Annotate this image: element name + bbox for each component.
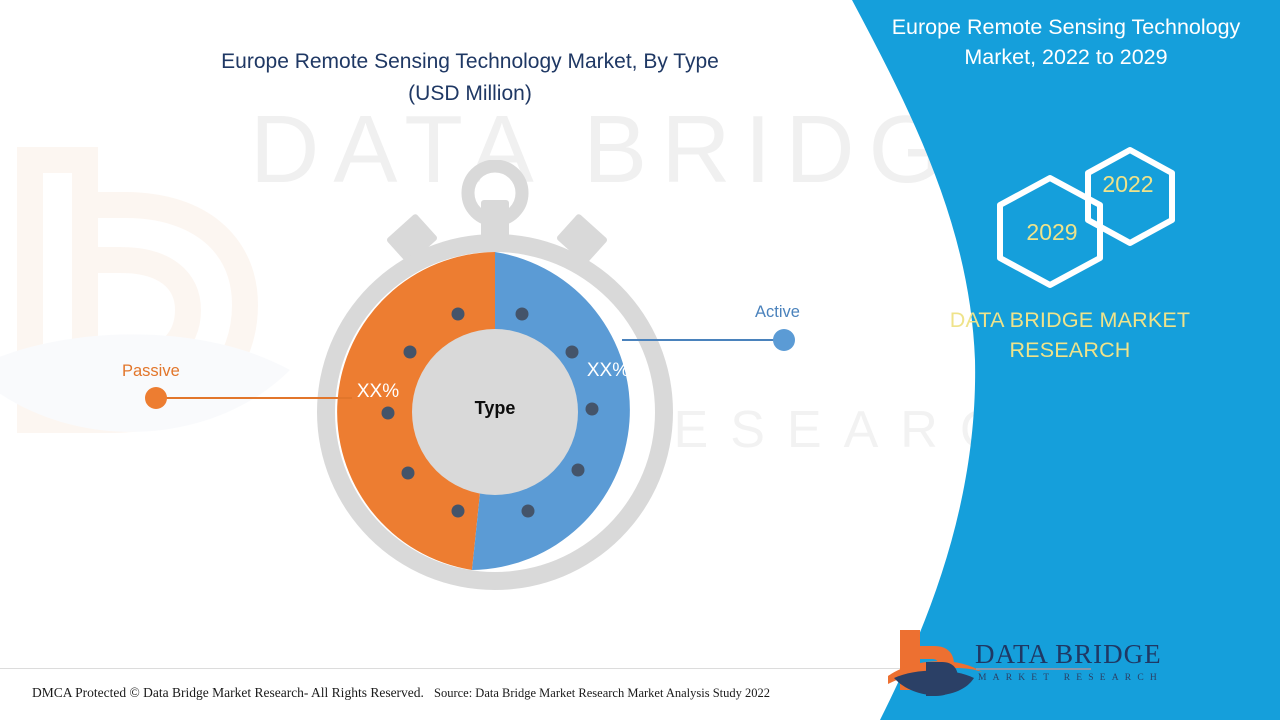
brand-name: DATA BRIDGE MARKET RESEARCH bbox=[874, 305, 1266, 365]
year-badge-2029-label: 2029 bbox=[1020, 219, 1084, 246]
footer-source-text: Source: Data Bridge Market Research Mark… bbox=[434, 686, 770, 701]
logo-tagline: MARKET RESEARCH bbox=[978, 673, 1163, 683]
panel-title-line-2: Market, 2022 to 2029 bbox=[866, 42, 1266, 72]
legend-dot-passive[interactable] bbox=[145, 387, 167, 409]
brand-name-line-2: RESEARCH bbox=[874, 335, 1266, 365]
logo-divider bbox=[976, 668, 1091, 670]
panel-title-line-1: Europe Remote Sensing Technology bbox=[866, 12, 1266, 42]
year-badges bbox=[980, 140, 1200, 290]
year-badge-2022-label: 2022 bbox=[1096, 171, 1160, 198]
infographic-canvas: DATA BRIDGE RESEARCH Europe Remote Sensi… bbox=[0, 0, 1280, 720]
brand-panel: Europe Remote Sensing Technology Market,… bbox=[820, 0, 1280, 720]
brand-name-line-1: DATA BRIDGE MARKET bbox=[874, 305, 1266, 335]
legend-dot-active[interactable] bbox=[773, 329, 795, 351]
footer-dmca-text: DMCA Protected © Data Bridge Market Rese… bbox=[32, 685, 424, 701]
logo-wordmark: DATA BRIDGE bbox=[975, 639, 1162, 670]
data-bridge-logo-icon bbox=[886, 628, 986, 702]
callout-label-active: Active bbox=[755, 303, 800, 322]
panel-title: Europe Remote Sensing Technology Market,… bbox=[866, 12, 1266, 72]
callout-label-passive: Passive bbox=[122, 362, 180, 381]
